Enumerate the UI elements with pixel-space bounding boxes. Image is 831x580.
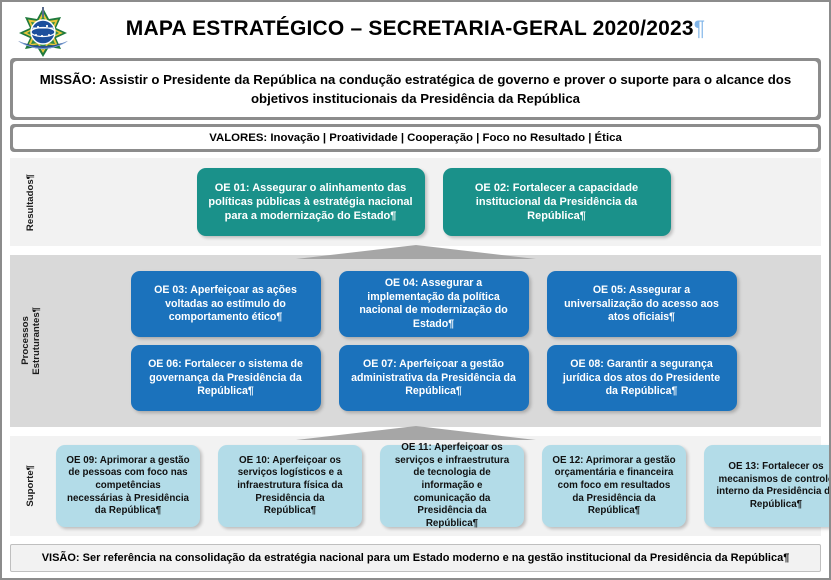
- band-resultados: Resultados¶ OE 01: Assegurar o alinhamen…: [10, 158, 821, 246]
- page-title-text: MAPA ESTRATÉGICO – SECRETARIA-GERAL 2020…: [126, 17, 694, 40]
- mission-frame: MISSÃO: Assistir o Presidente da Repúbli…: [10, 58, 821, 120]
- objective-box-oe01[interactable]: OE 01: Assegurar o alinhamento das polít…: [197, 168, 425, 236]
- band-suporte: Suporte¶ OE 09: Aprimorar a gestão de pe…: [10, 436, 821, 536]
- perspective-bands: Resultados¶ OE 01: Assegurar o alinhamen…: [10, 158, 821, 536]
- objective-box-oe03[interactable]: OE 03: Aperfeiçoar as ações voltadas ao …: [131, 271, 321, 337]
- band-label-resultados-text: Resultados¶: [25, 174, 36, 231]
- objective-box-oe12[interactable]: OE 12: Aprimorar a gestão orçamentária e…: [542, 445, 686, 527]
- objective-box-oe11[interactable]: OE 11: Aperfeiçoar os serviços e infraes…: [380, 445, 524, 527]
- brazil-coat-of-arms-icon: [12, 5, 74, 57]
- vision-frame: VISÃO: Ser referência na consolidação da…: [10, 544, 821, 572]
- band-body-suporte: OE 09: Aprimorar a gestão de pessoas com…: [52, 436, 831, 536]
- pilcrow-mark: ¶: [694, 17, 705, 40]
- objective-text: OE 13: Fortalecer os mecanismos de contr…: [714, 461, 831, 511]
- objective-row: OE 01: Assegurar o alinhamento das polít…: [56, 168, 811, 236]
- objective-box-oe02[interactable]: OE 02: Fortalecer a capacidade instituci…: [443, 168, 671, 236]
- objective-box-oe07[interactable]: OE 07: Aperfeiçoar a gestão administrati…: [339, 345, 529, 411]
- objective-box-oe05[interactable]: OE 05: Assegurar a universalização do ac…: [547, 271, 737, 337]
- objective-text: OE 03: Aperfeiçoar as ações voltadas ao …: [141, 284, 311, 325]
- strategic-map-page: MAPA ESTRATÉGICO – SECRETARIA-GERAL 2020…: [0, 0, 831, 580]
- band-label-resultados: Resultados¶: [10, 158, 52, 246]
- objective-text: OE 04: Assegurar a implementação da polí…: [349, 277, 519, 331]
- values-text: VALORES: Inovação | Proatividade | Coope…: [23, 132, 808, 144]
- values-frame: VALORES: Inovação | Proatividade | Coope…: [10, 124, 821, 152]
- band-label-suporte: Suporte¶: [10, 436, 52, 536]
- objective-box-oe08[interactable]: OE 08: Garantir a segurança jurídica dos…: [547, 345, 737, 411]
- objective-text: OE 02: Fortalecer a capacidade instituci…: [453, 181, 661, 223]
- objective-row: OE 09: Aprimorar a gestão de pessoas com…: [56, 445, 831, 527]
- mission-text: MISSÃO: Assistir o Presidente da Repúbli…: [29, 70, 802, 108]
- vision-text: VISÃO: Ser referência na consolidação da…: [21, 552, 810, 564]
- objective-text: OE 11: Aperfeiçoar os serviços e infraes…: [390, 442, 514, 530]
- page-title: MAPA ESTRATÉGICO – SECRETARIA-GERAL 2020…: [126, 17, 705, 41]
- objective-text: OE 08: Garantir a segurança jurídica dos…: [557, 358, 727, 399]
- objective-box-oe13[interactable]: OE 13: Fortalecer os mecanismos de contr…: [704, 445, 831, 527]
- page-header: MAPA ESTRATÉGICO – SECRETARIA-GERAL 2020…: [2, 2, 829, 56]
- objective-text: OE 07: Aperfeiçoar a gestão administrati…: [349, 358, 519, 399]
- band-body-resultados: OE 01: Assegurar o alinhamento das polít…: [52, 158, 821, 246]
- vision-box: VISÃO: Ser referência na consolidação da…: [10, 544, 821, 572]
- objective-box-oe10[interactable]: OE 10: Aperfeiçoar os serviços logístico…: [218, 445, 362, 527]
- objective-box-oe09[interactable]: OE 09: Aprimorar a gestão de pessoas com…: [56, 445, 200, 527]
- objective-row: OE 03: Aperfeiçoar as ações voltadas ao …: [56, 271, 811, 337]
- objective-box-oe04[interactable]: OE 04: Assegurar a implementação da polí…: [339, 271, 529, 337]
- mission-box: MISSÃO: Assistir o Presidente da Repúbli…: [13, 61, 818, 117]
- objective-box-oe06[interactable]: OE 06: Fortalecer o sistema de governanç…: [131, 345, 321, 411]
- objective-text: OE 09: Aprimorar a gestão de pessoas com…: [66, 455, 190, 518]
- objective-text: OE 06: Fortalecer o sistema de governanç…: [141, 358, 311, 399]
- objective-text: OE 10: Aperfeiçoar os serviços logístico…: [228, 455, 352, 518]
- objective-text: OE 01: Assegurar o alinhamento das polít…: [207, 181, 415, 223]
- objective-row: OE 06: Fortalecer o sistema de governanç…: [56, 345, 811, 411]
- band-label-suporte-text: Suporte¶: [25, 465, 36, 507]
- band-body-processos: OE 03: Aperfeiçoar as ações voltadas ao …: [52, 255, 821, 427]
- objective-text: OE 12: Aprimorar a gestão orçamentária e…: [552, 455, 676, 518]
- objective-text: OE 05: Assegurar a universalização do ac…: [557, 284, 727, 325]
- band-processos-estruturantes: Processos Estruturantes¶ OE 03: Aperfeiç…: [10, 255, 821, 427]
- band-label-processos-text: Processos Estruturantes¶: [20, 307, 42, 375]
- values-box: VALORES: Inovação | Proatividade | Coope…: [13, 127, 818, 149]
- band-label-processos: Processos Estruturantes¶: [10, 255, 52, 427]
